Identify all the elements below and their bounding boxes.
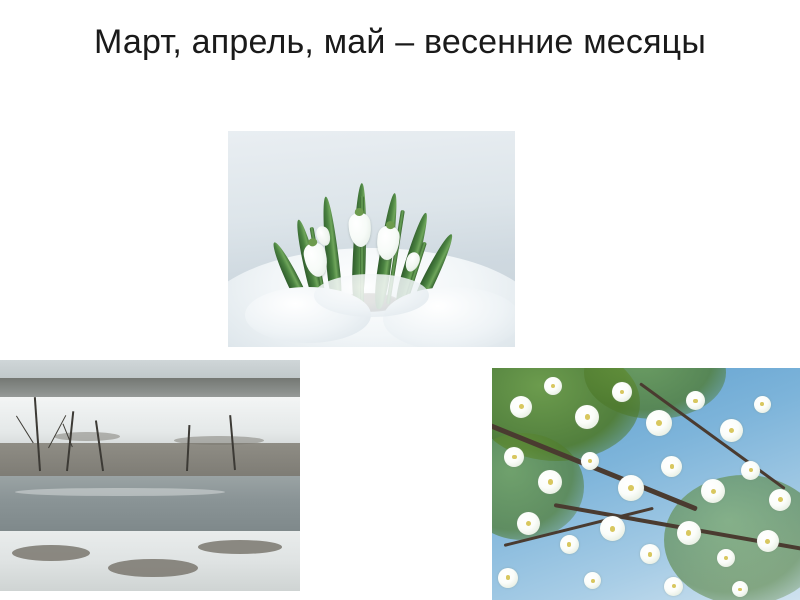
blossom-flower [661,456,682,477]
blossom-flower [720,419,743,442]
image-cherry-blossom: Цветущая вишня на фоне голубого неба [492,368,800,600]
blossom-flower [600,516,625,541]
thaw-patch [12,545,90,561]
blossom-flower [581,452,599,470]
blossom-flower [618,475,644,501]
thaw-patch [108,559,198,577]
snowdrop-flower [347,212,371,247]
image-snowdrops-in-snow: Подснежники, пробивающиеся сквозь снег [228,131,515,347]
blossom-flower [646,410,672,436]
blossom-flower [612,382,632,402]
blossom-flower [717,549,735,567]
slide-canvas: Март, апрель, май – весенние месяцы Подс… [0,0,800,600]
blossom-flower [686,391,705,410]
thaw-patch [198,540,282,554]
blossom-flower [560,535,579,554]
thaw-patch [54,432,120,441]
blossom-flower [677,521,701,545]
image-thawing-field: Весенняя проталина с талой водой на засн… [0,360,300,591]
meltwater-puddle [0,476,300,536]
blossom-flower [754,396,771,413]
blossom-flower [498,568,518,588]
blossom-flower [584,572,601,589]
blossom-flower [769,489,791,511]
blossom-flower [517,512,540,535]
blossom-flower [664,577,683,596]
page-title: Март, апрель, май – весенние месяцы [60,20,740,65]
snow-mound [314,274,429,317]
blossom-flower [640,544,660,564]
